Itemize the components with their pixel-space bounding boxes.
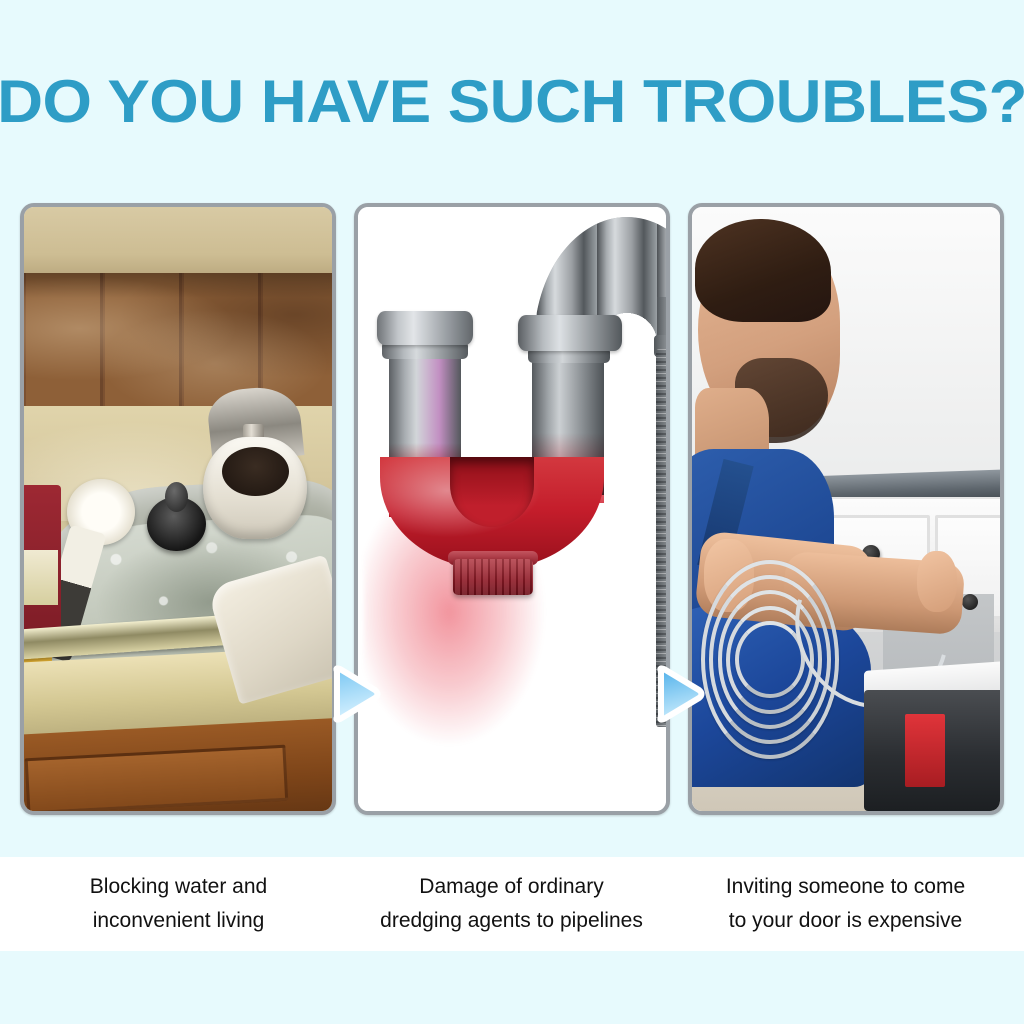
panel-row	[0, 203, 1024, 817]
panel-pipe-damage[interactable]	[354, 203, 670, 815]
drain-plug-icon	[147, 497, 206, 551]
white-bowl	[203, 437, 308, 540]
caption-band: Blocking water and inconvenient living D…	[0, 857, 1024, 951]
sink-photo	[24, 207, 332, 811]
soap-bottle	[24, 485, 61, 648]
wood-cabinet	[24, 717, 332, 811]
play-triangle-right-icon	[327, 663, 383, 725]
riser-collar-top	[518, 315, 622, 351]
page-title: DO YOU HAVE SUCH TROUBLES?	[0, 72, 1024, 132]
caption-clogged-sink: Blocking water and inconvenient living	[12, 857, 345, 951]
caption-plumber-cost: Inviting someone to come to your door is…	[679, 857, 1012, 951]
poster-stage: DO YOU HAVE SUCH TROUBLES?	[0, 0, 1024, 1024]
plumber-hair	[695, 219, 831, 322]
toolbox-latch	[905, 714, 945, 786]
caption-line: Damage of ordinary	[419, 870, 603, 904]
panel-clogged-sink[interactable]	[20, 203, 336, 815]
cleanout-nut	[453, 559, 533, 595]
pipe-illustration	[358, 207, 666, 811]
panel-plumber-cost[interactable]	[688, 203, 1004, 815]
caption-pipe-damage: Damage of ordinary dredging agents to pi…	[345, 857, 678, 951]
play-triangle-right-icon	[651, 663, 707, 725]
sink-scene	[24, 207, 332, 811]
pipe-scene	[358, 207, 666, 811]
plumber-scene	[692, 207, 1000, 811]
caption-line: inconvenient living	[93, 904, 265, 938]
brick-backsplash	[24, 273, 332, 412]
caption-line: to your door is expensive	[729, 904, 962, 938]
caption-line: Blocking water and	[90, 870, 267, 904]
caption-line: Inviting someone to come	[726, 870, 965, 904]
cabinet-knob-icon-2	[962, 594, 978, 610]
caption-line: dredging agents to pipelines	[380, 904, 643, 938]
plumber-photo	[692, 207, 1000, 811]
inlet-collar-top	[377, 311, 473, 345]
